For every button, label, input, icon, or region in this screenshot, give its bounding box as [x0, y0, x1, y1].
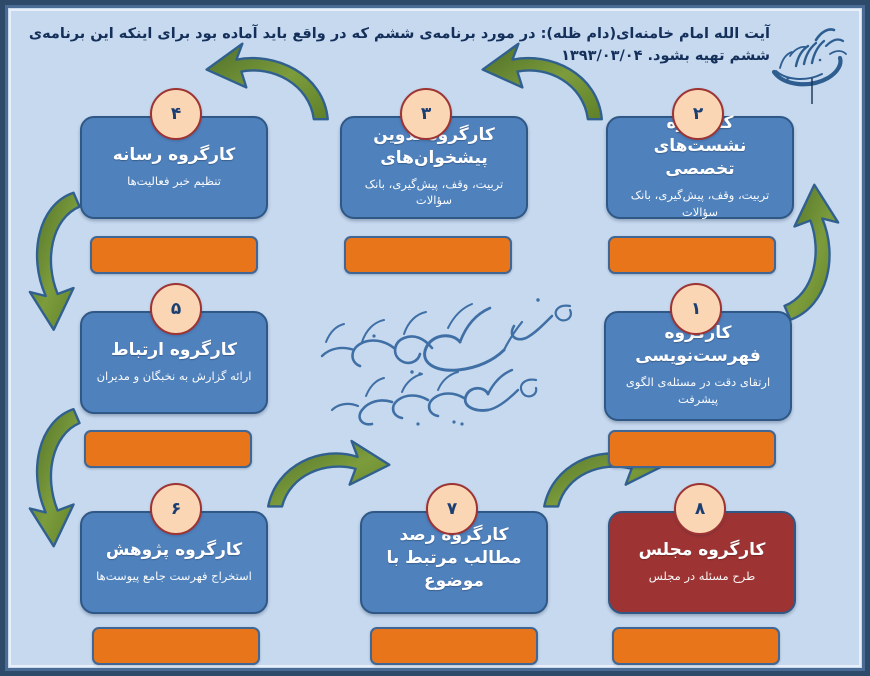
bar-7[interactable] [370, 627, 538, 665]
node-3-number-badge: ۳ [400, 88, 452, 140]
node-4-number-badge: ۴ [150, 88, 202, 140]
node-5-number-badge: ۵ [150, 283, 202, 335]
arrow-6-to-7-icon [268, 441, 389, 507]
node-8-title: کارگروه مجلس [639, 539, 766, 562]
node-1-number: ۱ [691, 299, 701, 319]
node-8-number-badge: ۸ [674, 483, 726, 535]
arrow-4-to-5-icon [30, 193, 80, 330]
node-5-number: ۵ [171, 299, 181, 319]
node-3-subtitle: تربیت، وقف، پیش‌گیری، بانک سؤالات [352, 176, 516, 209]
node-2-number: ۲ [693, 104, 703, 124]
node-6-number-badge: ۶ [150, 483, 202, 535]
node-7-number: ۷ [447, 499, 457, 519]
bar-8[interactable] [612, 627, 780, 665]
node-1-subtitle: ارتقای دقت در مسئله‌ی الگوی پیشرفت [616, 374, 780, 407]
node-3-number: ۳ [421, 104, 431, 124]
node-2-subtitle: تربیت، وقف، پیش‌گیری، بانک سؤالات [618, 187, 782, 220]
node-6-title: کارگروه پژوهش [106, 539, 242, 562]
header-quote-text: آیت الله امام خامنه‌ای(دام ظله): در مورد… [29, 26, 770, 64]
node-5-subtitle: ارائه گزارش به نخبگان و مدیران [97, 368, 252, 385]
bar-5[interactable] [84, 430, 252, 468]
node-5-title: کارگروه ارتباط [111, 339, 237, 362]
node-4-title: کارگروه رسانه [113, 144, 236, 167]
node-6-number: ۶ [171, 499, 181, 519]
bar-4[interactable] [90, 236, 258, 274]
bar-2[interactable] [608, 236, 776, 274]
arrow-5-to-6-icon [30, 409, 80, 546]
node-8-subtitle: طرح مسئله در مجلس [649, 568, 755, 585]
node-4-number: ۴ [171, 104, 181, 124]
node-8-number: ۸ [695, 499, 705, 519]
bar-1[interactable] [608, 430, 776, 468]
header-quote: آیت الله امام خامنه‌ای(دام ظله): در مورد… [24, 24, 770, 68]
node-4-subtitle: تنظیم خبر فعالیت‌ها [127, 173, 221, 190]
node-2-number-badge: ۲ [672, 88, 724, 140]
poster-frame: آیت الله امام خامنه‌ای(دام ظله): در مورد… [5, 5, 865, 671]
node-6-subtitle: استخراج فهرست جامع پیوست‌ها [96, 568, 252, 585]
infographic-poster: آیت الله امام خامنه‌ای(دام ظله): در مورد… [0, 0, 870, 676]
header-date: ۱۳۹۳/۰۳/۰۴ [561, 48, 642, 64]
bismillah-calligraphy-icon [766, 16, 852, 104]
node-7-number-badge: ۷ [426, 483, 478, 535]
bar-6[interactable] [92, 627, 260, 665]
bar-3[interactable] [344, 236, 512, 274]
node-1-number-badge: ۱ [670, 283, 722, 335]
